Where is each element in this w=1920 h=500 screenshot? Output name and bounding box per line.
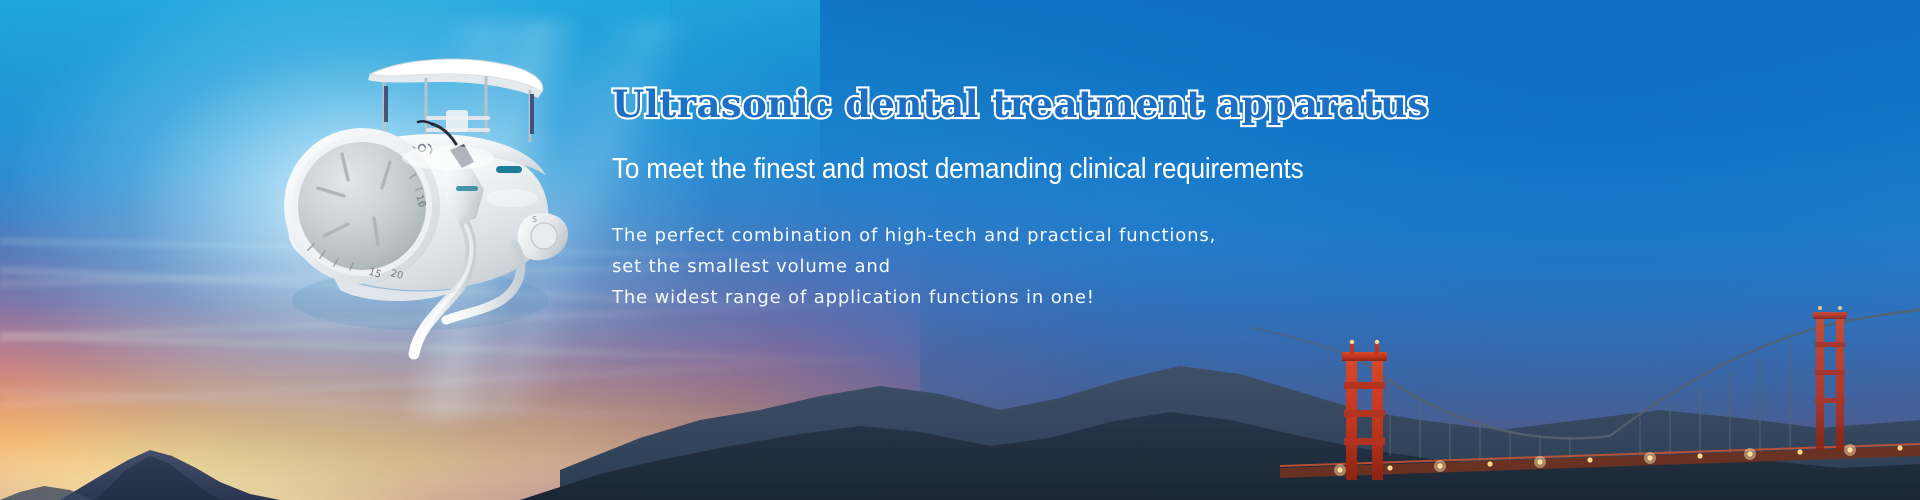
promo-banner: 10 15 20 S — [0, 0, 1920, 500]
golden-gate-bridge — [1220, 240, 1920, 500]
body-line-1: The perfect combination of high-tech and… — [612, 220, 1312, 251]
banner-subheadline: To meet the finest and most demanding cl… — [612, 152, 1242, 186]
banner-copy: Ultrasonic dental treatment apparatus To… — [612, 82, 1312, 313]
svg-text:S: S — [532, 215, 537, 224]
banner-headline: Ultrasonic dental treatment apparatus — [612, 82, 1312, 126]
body-line-3: The widest range of application function… — [612, 282, 1312, 313]
body-line-2: set the smallest volume and — [612, 251, 1312, 282]
banner-body-text: The perfect combination of high-tech and… — [612, 220, 1312, 313]
ultrasonic-scaler-product-image: 10 15 20 S — [250, 38, 610, 378]
